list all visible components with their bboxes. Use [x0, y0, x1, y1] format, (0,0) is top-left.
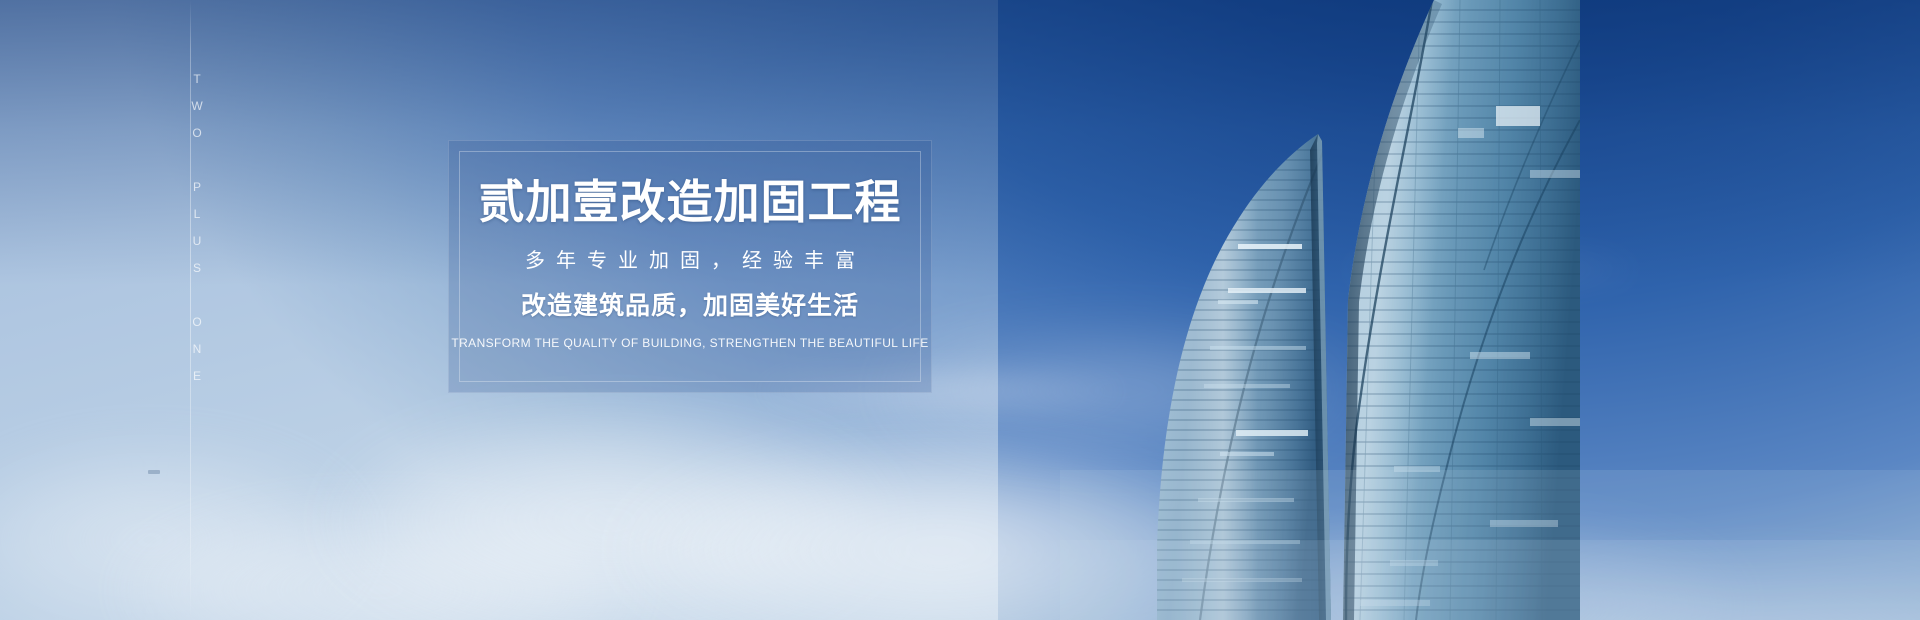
brand-tick-marker: [148, 470, 160, 474]
hero-banner: TWO PLUS ONE 贰加壹改造加固工程 多年专业加固，经验丰富 改造建筑品…: [0, 0, 1920, 620]
hero-panel-content: 贰加壹改造加固工程 多年专业加固，经验丰富 改造建筑品质，加固美好生活 TRAN…: [449, 141, 931, 392]
hero-subtitle: 多年专业加固，经验丰富: [514, 250, 866, 270]
sky-top-gradient: [0, 0, 1920, 285]
brand-vertical-text: TWO PLUS ONE: [184, 72, 204, 396]
hero-slogan: 改造建筑品质，加固美好生活: [521, 293, 859, 318]
hero-english-tagline: TRANSFORM THE QUALITY OF BUILDING, STREN…: [451, 337, 928, 349]
hero-text-panel: 贰加壹改造加固工程 多年专业加固，经验丰富 改造建筑品质，加固美好生活 TRAN…: [448, 140, 932, 393]
hero-title: 贰加壹改造加固工程: [479, 179, 902, 225]
